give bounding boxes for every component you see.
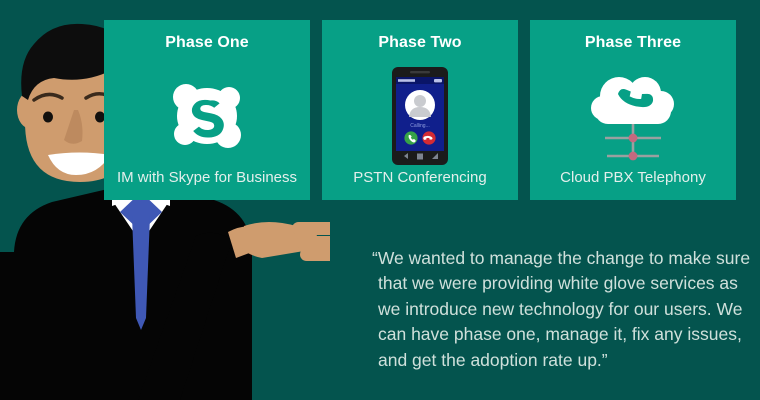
network-node-lower	[629, 152, 638, 161]
phone-signal-bars	[398, 79, 415, 82]
phase-panel-two[interactable]: Phase Two Calling...	[322, 20, 518, 200]
skype-logo-icon	[104, 64, 310, 168]
quote-line: we introduce new technology for our user…	[378, 297, 760, 323]
phase-three-caption: Cloud PBX Telephony	[530, 169, 736, 186]
skype-cloud-shape	[173, 84, 241, 148]
cloud-phone-network-icon	[530, 64, 736, 168]
quote-line: that we were providing white glove servi…	[378, 271, 760, 297]
phase-panel-one[interactable]: Phase One IM with Skype for Busin	[104, 20, 310, 200]
smartphone-incoming-call-icon: Calling...	[322, 64, 518, 168]
phase-one-title: Phase One	[104, 34, 310, 52]
eye-left	[43, 112, 53, 123]
customer-quote: “We wanted to manage the change to make …	[378, 246, 760, 374]
suit-left-fill	[0, 252, 30, 400]
finger-ring	[300, 248, 330, 261]
finger-index	[292, 222, 330, 235]
finger-middle	[296, 236, 330, 249]
infographic-canvas: Phase One IM with Skype for Busin	[0, 0, 760, 400]
cloud-shape	[591, 77, 674, 124]
phase-one-caption: IM with Skype for Business	[104, 169, 310, 186]
phase-panel-three[interactable]: Phase Three	[530, 20, 736, 200]
phone-speaker	[410, 71, 430, 73]
nav-home-icon[interactable]	[417, 154, 423, 160]
quote-line: “We wanted to manage the change to make …	[378, 246, 760, 272]
phase-two-caption: PSTN Conferencing	[322, 169, 518, 186]
phase-three-title: Phase Three	[530, 34, 736, 52]
avatar-head	[414, 95, 426, 107]
network-node-upper	[629, 134, 638, 143]
phase-two-title: Phase Two	[322, 34, 518, 52]
quote-line: can have phase one, manage it, fix any i…	[378, 322, 760, 348]
phone-caller-label: Calling...	[410, 123, 429, 129]
phone-battery-icon	[434, 79, 442, 82]
quote-line: and get the adoption rate up.”	[378, 348, 760, 374]
